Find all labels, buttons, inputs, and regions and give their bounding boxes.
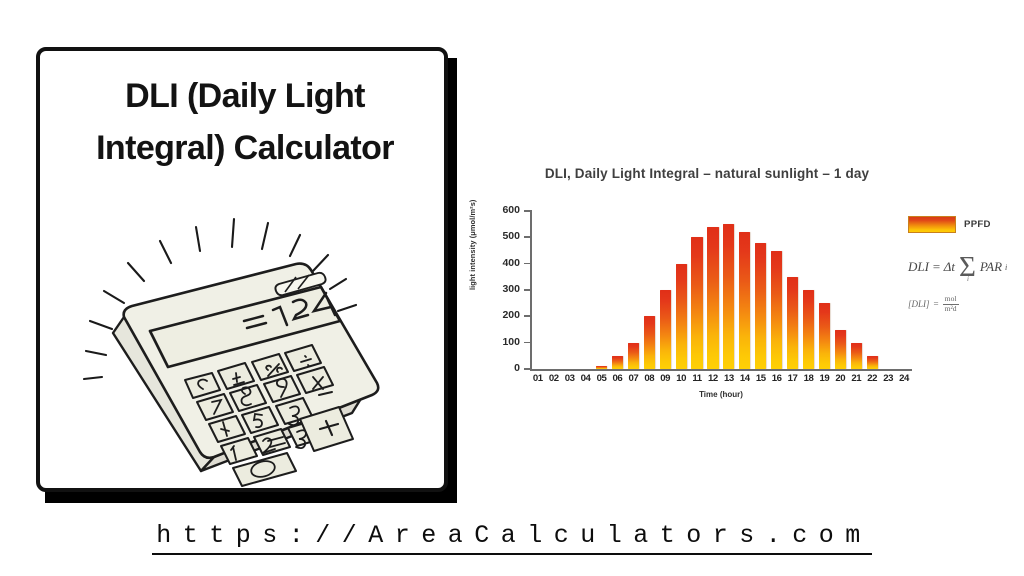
chart-bar-slot bbox=[835, 210, 847, 369]
chart-y-axis-title: light intensity (μmol/m²s) bbox=[468, 200, 477, 290]
chart-bar bbox=[819, 303, 830, 369]
calculator-illustration bbox=[40, 201, 448, 491]
chart-bar bbox=[644, 316, 655, 369]
formula-sigma-index: i bbox=[967, 275, 969, 283]
y-tick-mark bbox=[524, 342, 530, 344]
y-tick-label: 300 bbox=[502, 283, 520, 295]
x-tick-label: 04 bbox=[580, 373, 592, 384]
calculator-body-icon bbox=[113, 264, 378, 486]
y-tick-label: 600 bbox=[502, 204, 520, 216]
chart-bar-slot bbox=[707, 210, 719, 369]
chart-bar-slot bbox=[850, 210, 862, 369]
y-tick-label: 400 bbox=[502, 257, 520, 269]
page-title-line-2: Integral) Calculator bbox=[46, 123, 444, 175]
y-tick-mark bbox=[524, 236, 530, 238]
y-tick-mark bbox=[524, 210, 530, 212]
y-tick-mark bbox=[524, 368, 530, 370]
x-tick-label: 20 bbox=[835, 373, 847, 384]
y-tick-label: 200 bbox=[502, 309, 520, 321]
units-equals: = bbox=[934, 299, 939, 309]
dli-units-annotation: [DLI] = mol m²d bbox=[908, 295, 1020, 313]
x-tick-label: 24 bbox=[898, 373, 910, 384]
chart-bar-slot bbox=[548, 210, 560, 369]
chart-bar-slot bbox=[819, 210, 831, 369]
legend-swatch-ppfd bbox=[908, 216, 956, 233]
chart-bar-slot bbox=[532, 210, 544, 369]
formula-equals: = bbox=[932, 259, 941, 275]
chart-bar-slot bbox=[580, 210, 592, 369]
chart-bar bbox=[739, 232, 750, 369]
chart-bar-slot bbox=[675, 210, 687, 369]
chart-bar bbox=[755, 243, 766, 369]
chart-legend: PPFD DLI = Δt Σ i PARi [DLI] = mol m²d bbox=[908, 216, 1020, 313]
y-tick-mark bbox=[524, 263, 530, 265]
chart-bar-slot bbox=[628, 210, 640, 369]
y-tick-label: 0 bbox=[514, 362, 520, 374]
x-tick-label: 15 bbox=[755, 373, 767, 384]
x-tick-label: 14 bbox=[739, 373, 751, 384]
formula-delta-t: Δt bbox=[944, 259, 955, 275]
formula-lhs: DLI bbox=[908, 259, 929, 275]
chart-bar-slot bbox=[771, 210, 783, 369]
chart-bar bbox=[691, 237, 702, 369]
hero-card: DLI (Daily Light Integral) Calculator bbox=[36, 47, 448, 492]
units-denominator: m²d bbox=[943, 305, 959, 314]
x-tick-label: 13 bbox=[723, 373, 735, 384]
x-tick-label: 19 bbox=[819, 373, 831, 384]
chart-bar-slot bbox=[882, 210, 894, 369]
chart-bar-slot bbox=[612, 210, 624, 369]
chart-bar bbox=[835, 330, 846, 370]
x-tick-label: 02 bbox=[548, 373, 560, 384]
chart-bar bbox=[851, 343, 862, 369]
chart-bar bbox=[596, 366, 607, 369]
x-tick-label: 16 bbox=[771, 373, 783, 384]
x-tick-label: 03 bbox=[564, 373, 576, 384]
chart-bar bbox=[723, 224, 734, 369]
chart-bar-slot bbox=[755, 210, 767, 369]
x-tick-label: 08 bbox=[643, 373, 655, 384]
legend-entry-ppfd: PPFD bbox=[908, 216, 1020, 233]
y-tick-mark bbox=[524, 289, 530, 291]
chart-bar-slot bbox=[787, 210, 799, 369]
chart-bar bbox=[771, 251, 782, 370]
chart-bar bbox=[787, 277, 798, 369]
formula-sigma-group: Σ i bbox=[958, 255, 977, 279]
chart-bar-slot bbox=[564, 210, 576, 369]
units-lhs: [DLI] bbox=[908, 299, 930, 309]
chart-bar bbox=[612, 356, 623, 369]
chart-bar-slot bbox=[691, 210, 703, 369]
chart-bar-slot bbox=[803, 210, 815, 369]
x-tick-label: 18 bbox=[803, 373, 815, 384]
chart-title: DLI, Daily Light Integral – natural sunl… bbox=[462, 166, 952, 181]
dli-chart: DLI, Daily Light Integral – natural sunl… bbox=[462, 158, 1018, 416]
site-url-text: https://AreaCalculators.com bbox=[152, 521, 872, 555]
y-tick-label: 500 bbox=[502, 230, 520, 242]
chart-bar bbox=[676, 264, 687, 369]
x-tick-label: 23 bbox=[882, 373, 894, 384]
page-title-line-1: DLI (Daily Light bbox=[46, 71, 444, 123]
formula-par-term: PAR bbox=[980, 259, 1002, 275]
y-tick-label: 100 bbox=[502, 336, 520, 348]
x-tick-label: 12 bbox=[707, 373, 719, 384]
x-tick-label: 10 bbox=[675, 373, 687, 384]
chart-bars bbox=[532, 210, 910, 369]
chart-bar-slot bbox=[643, 210, 655, 369]
x-tick-label: 21 bbox=[850, 373, 862, 384]
chart-bar bbox=[660, 290, 671, 369]
x-tick-label: 22 bbox=[866, 373, 878, 384]
chart-bar-slot bbox=[866, 210, 878, 369]
chart-bar bbox=[628, 343, 639, 369]
formula-par-subscript: i bbox=[1005, 263, 1007, 272]
chart-bar-slot bbox=[659, 210, 671, 369]
chart-bar bbox=[867, 356, 878, 369]
x-tick-label: 05 bbox=[596, 373, 608, 384]
page-title: DLI (Daily Light Integral) Calculator bbox=[46, 71, 444, 174]
x-tick-label: 11 bbox=[691, 373, 703, 384]
dli-formula-annotation: DLI = Δt Σ i PARi bbox=[908, 255, 1020, 279]
y-tick-mark bbox=[524, 315, 530, 317]
chart-bar-slot bbox=[723, 210, 735, 369]
legend-label-ppfd: PPFD bbox=[964, 219, 991, 230]
chart-bar-slot bbox=[739, 210, 751, 369]
chart-x-axis-title: Time (hour) bbox=[532, 390, 910, 399]
chart-x-axis bbox=[530, 369, 912, 371]
x-tick-label: 06 bbox=[612, 373, 624, 384]
chart-bar bbox=[803, 290, 814, 369]
page-root: DLI (Daily Light Integral) Calculator bbox=[0, 0, 1024, 576]
x-tick-label: 09 bbox=[659, 373, 671, 384]
x-tick-label: 17 bbox=[787, 373, 799, 384]
site-url-footer: https://AreaCalculators.com bbox=[0, 521, 1024, 555]
units-fraction: mol m²d bbox=[943, 295, 959, 313]
chart-x-tick-labels: 0102030405060708091011121314151617181920… bbox=[532, 373, 910, 384]
chart-bar bbox=[707, 227, 718, 369]
x-tick-label: 07 bbox=[628, 373, 640, 384]
x-tick-label: 01 bbox=[532, 373, 544, 384]
chart-bar-slot bbox=[596, 210, 608, 369]
